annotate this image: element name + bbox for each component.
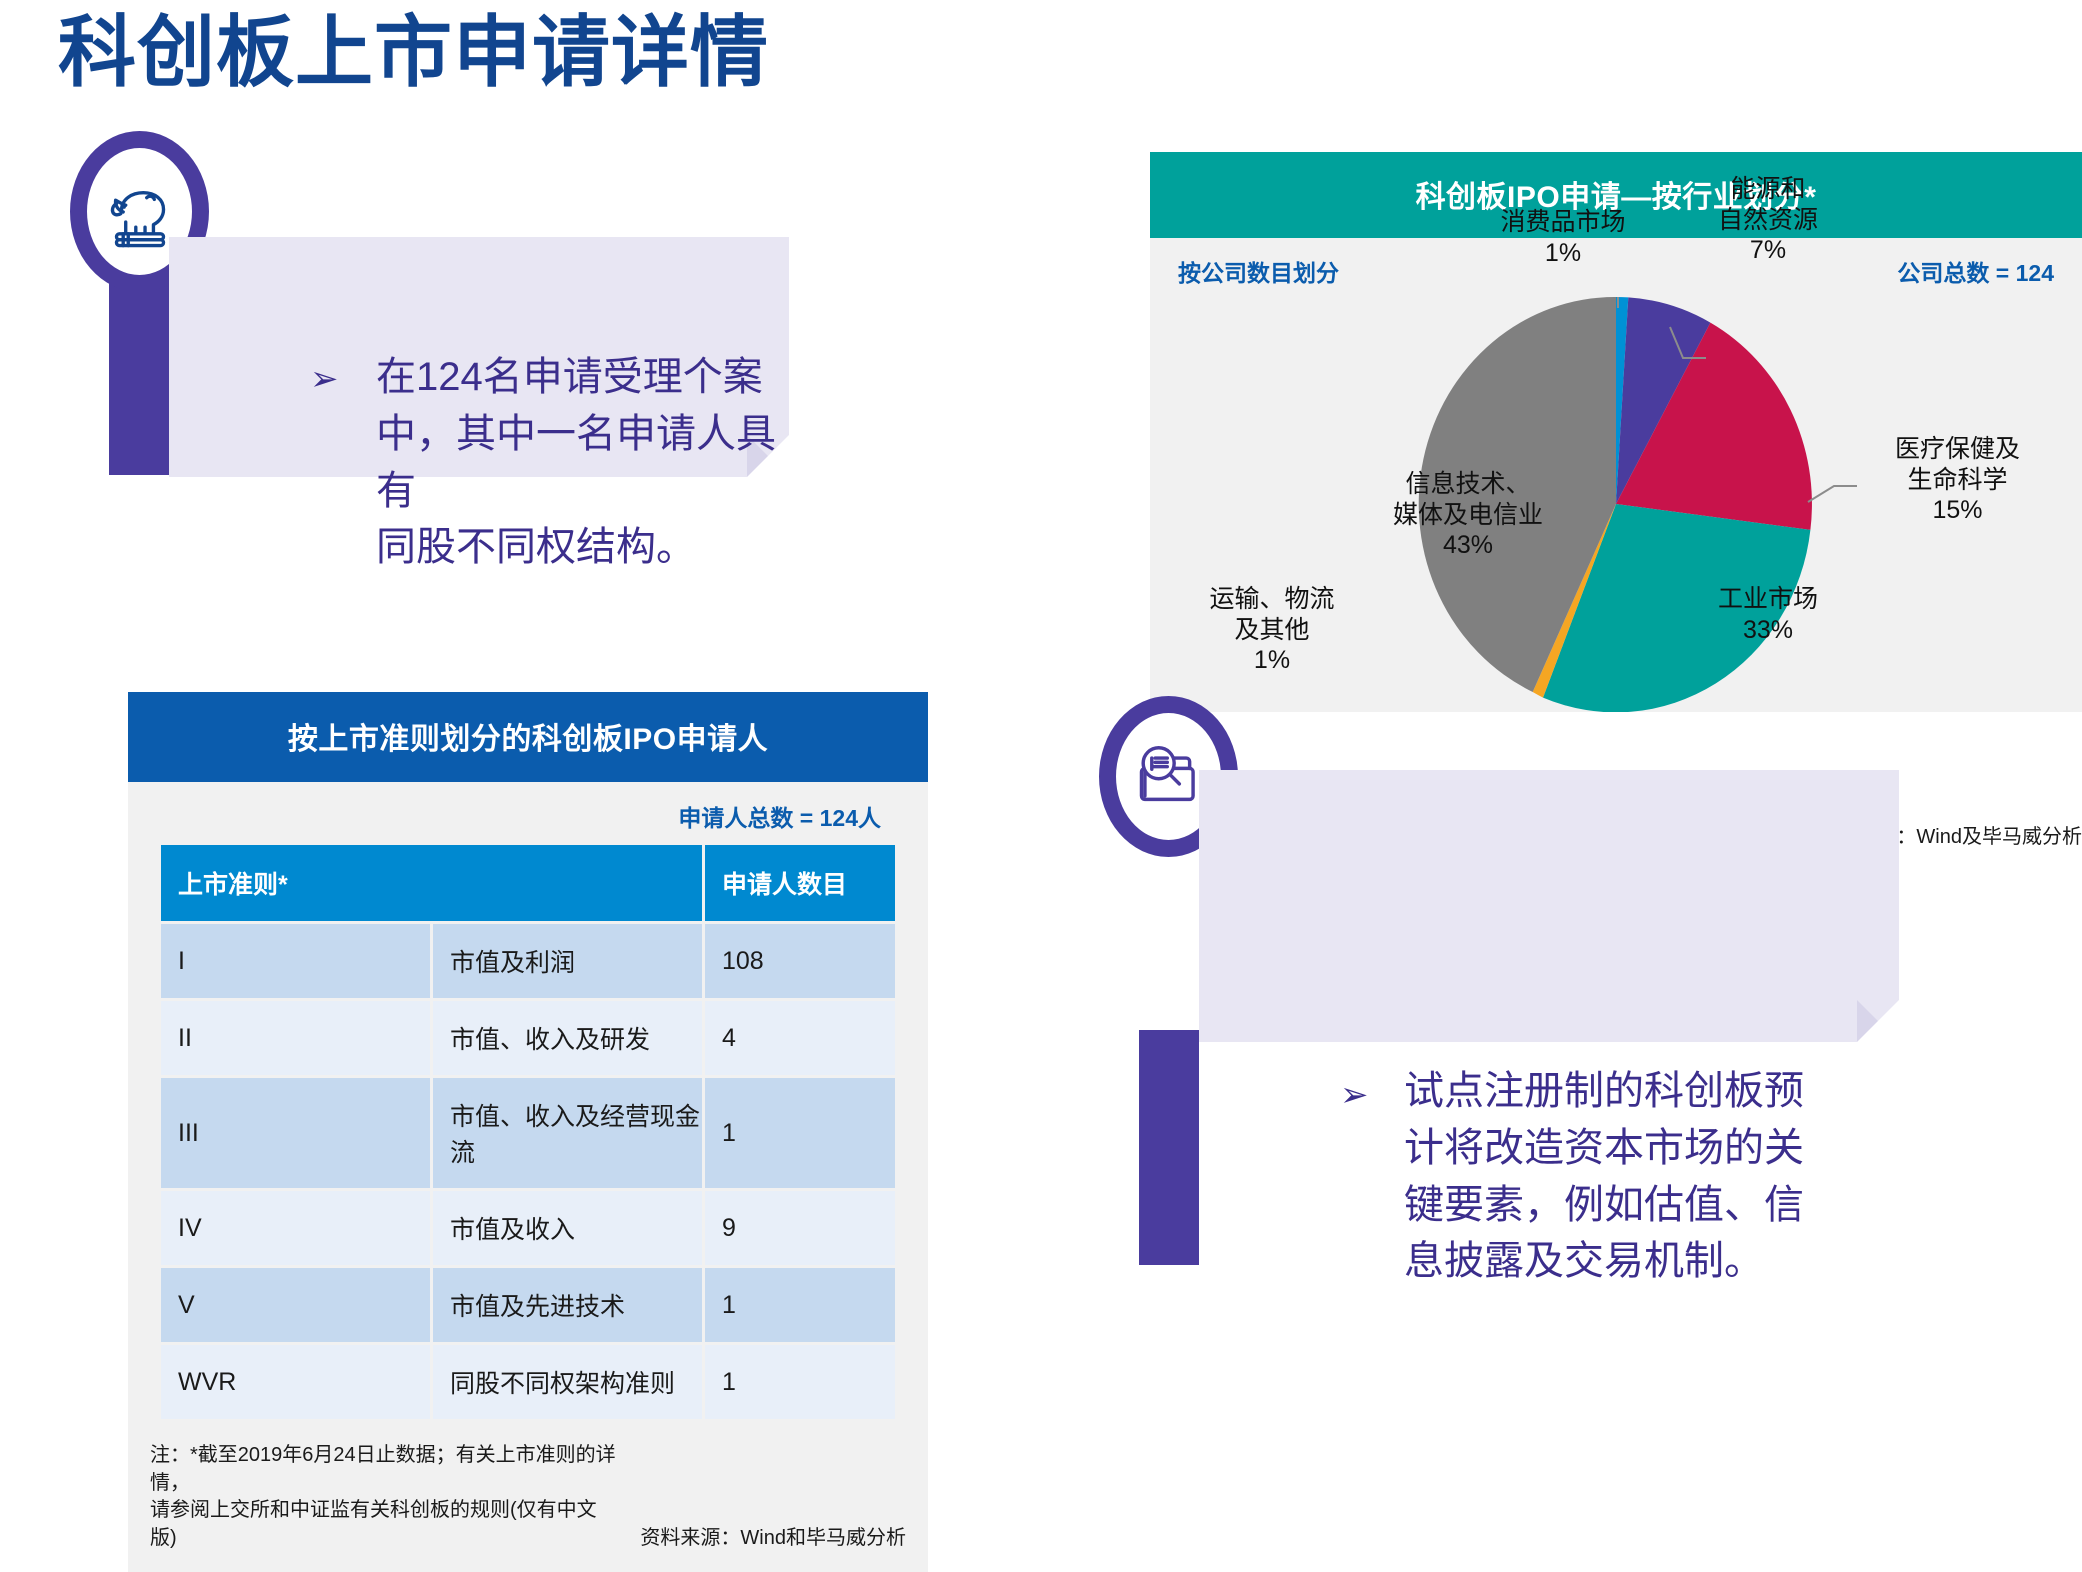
column-header-criteria: 上市准则* [161,845,702,921]
cell-description: 同股不同权架构准则 [433,1345,702,1419]
table-row: V 市值及先进技术 1 [161,1268,895,1342]
listing-criteria-table: 上市准则* 申请人数目 I 市值及利润 108 II 市值、收入及研发 4 II… [158,842,898,1422]
page-title: 科创板上市申请详情 [58,8,769,98]
bottom-callout-bullet: ➢ [1340,1078,1369,1112]
cell-numeral: III [161,1078,430,1188]
pie-label-healthcare: 医疗保健及 生命科学 15% [1850,434,2065,526]
cell-description: 市值及先进技术 [433,1268,702,1342]
pie-label-industrial: 工业市场 33% [1678,584,1858,645]
column-header-count: 申请人数目 [705,845,895,921]
table-total-applicants: 申请人总数 = 124人 [128,782,928,842]
table-source: 资料来源：Wind和毕马威分析 [640,1521,906,1552]
listing-criteria-panel: 按上市准则划分的科创板IPO申请人 申请人总数 = 124人 上市准则* 申请人… [128,692,928,1572]
chart-subtitle-left: 按公司数目划分 [1178,254,1339,288]
cell-numeral: I [161,924,430,998]
pie-label-consumer: 消费品市场 1% [1458,207,1668,268]
cell-numeral: V [161,1268,430,1342]
table-row: WVR 同股不同权架构准则 1 [161,1345,895,1419]
table-panel-title: 按上市准则划分的科创板IPO申请人 [128,692,928,782]
cell-numeral: WVR [161,1345,430,1419]
bottom-pin-stem [1139,1030,1199,1265]
cell-numeral: IV [161,1191,430,1265]
pie-chart: 消费品市场 1% 能源和 自然资源 7% 医疗保健及 生命科学 15% 运输、物… [1150,292,2082,712]
pie-label-tmt: 信息技术、 媒体及电信业 43% [1348,469,1588,561]
pie-label-energy: 能源和 自然资源 7% [1678,174,1858,266]
pie-label-transport: 运输、物流 及其他 1% [1172,584,1372,676]
cell-numeral: II [161,1001,430,1075]
table-row: I 市值及利润 108 [161,924,895,998]
cell-description: 市值及收入 [433,1191,702,1265]
cell-count: 9 [705,1191,895,1265]
cell-count: 4 [705,1001,895,1075]
cell-count: 108 [705,924,895,998]
cell-count: 1 [705,1345,895,1419]
cell-count: 1 [705,1268,895,1342]
cell-count: 1 [705,1078,895,1188]
cell-description: 市值及利润 [433,924,702,998]
top-callout-text: 在124名申请受理个案 中，其中一名申请人具有 同股不同权结构。 [376,349,776,576]
table-header-row: 上市准则* 申请人数目 [161,845,895,921]
table-footnote-row: 注：*截至2019年6月24日止数据；有关上市准则的详情， 请参阅上交所和中证监… [128,1430,928,1572]
chart-total-companies: 公司总数 = 124 [1897,254,2054,288]
top-callout-bullet: ➢ [310,362,339,396]
cell-description: 市值、收入及研发 [433,1001,702,1075]
bottom-callout-box [1199,770,1899,1042]
bottom-callout-corner [1857,1000,1899,1042]
table-row: III 市值、收入及经营现金流 1 [161,1078,895,1188]
industry-breakdown-panel: 科创板IPO申请—按行业划分* 按公司数目划分 公司总数 = 124 [1150,152,2082,712]
bottom-callout-text: 试点注册制的科创板预 计将改造资本市场的关 键要素，例如估值、信 息披露及交易机… [1404,1063,1884,1290]
table-row: IV 市值及收入 9 [161,1191,895,1265]
cell-description: 市值、收入及经营现金流 [433,1078,702,1188]
table-row: II 市值、收入及研发 4 [161,1001,895,1075]
table-note: 注：*截至2019年6月24日止数据；有关上市准则的详情， 请参阅上交所和中证监… [150,1442,620,1552]
